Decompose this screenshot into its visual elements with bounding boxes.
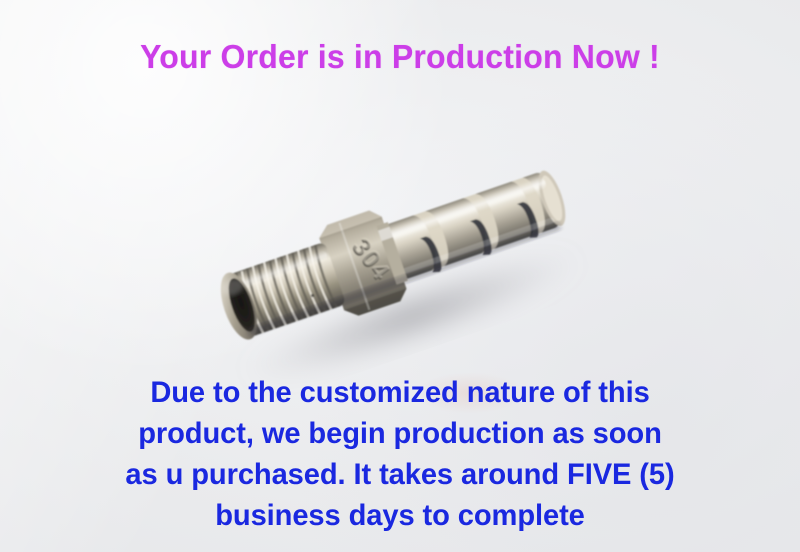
footer-line-1: Due to the customized nature of this	[12, 372, 788, 413]
svg-text:304: 304	[346, 232, 395, 285]
footer-line-3: as u purchased. It takes around FIVE (5)	[12, 454, 788, 495]
footer-line-2: product, we begin production as soon	[12, 413, 788, 454]
thread-crests	[239, 247, 331, 334]
svg-text:304: 304	[346, 234, 395, 287]
barb-grooves	[420, 200, 542, 275]
grade-stamp-304: 304 304	[345, 232, 396, 286]
barbed-end	[381, 168, 572, 286]
hose-barb-body: 304 304	[209, 150, 577, 357]
threaded-end	[213, 240, 346, 344]
bore-opening	[223, 275, 260, 334]
thread-grooves	[233, 245, 336, 336]
barb-ridges	[413, 175, 550, 271]
hex-body: 304 304	[316, 207, 410, 319]
footer-message: Due to the customized nature of this pro…	[12, 372, 788, 536]
image-canvas: 304 304	[0, 0, 800, 552]
footer-line-4: business days to complete	[12, 495, 788, 536]
headline-text: Your Order is in Production Now !	[12, 38, 788, 76]
